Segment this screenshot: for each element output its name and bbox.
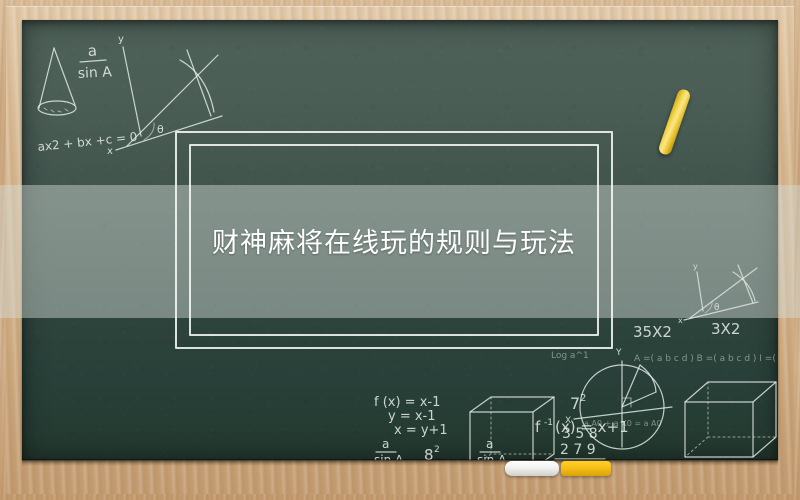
svg-text:f (x) = x-1: f (x) = x-1 xyxy=(374,395,440,410)
multiplication-35x2-text: 35X2 xyxy=(633,323,672,341)
svg-text:sin A: sin A xyxy=(477,453,507,460)
log-small-text: Log a^1 xyxy=(551,351,589,361)
function-equations-bottom: f (x) = x-1 y = x-1 x = y+1 xyxy=(374,395,448,438)
svg-text:2 7 9: 2 7 9 xyxy=(560,442,596,458)
seven-squared-text: 7 2 xyxy=(570,393,586,413)
fraction-a-over-sinA-bottomleft: a sin A xyxy=(374,437,404,460)
cone-drawing xyxy=(38,48,76,115)
cube-drawing-center xyxy=(470,397,554,460)
svg-text:a: a xyxy=(87,42,97,60)
svg-text:y: y xyxy=(118,34,124,45)
svg-text:θ: θ xyxy=(714,303,720,313)
svg-text:2: 2 xyxy=(580,393,586,404)
svg-text:x: x xyxy=(107,146,113,157)
eight-squared-text: 8 2 xyxy=(424,445,440,460)
inverse-function-text: f -1 (x) = x+1 xyxy=(535,418,629,436)
multiplication-3x2-text: 3X2 xyxy=(711,320,740,338)
matrix-notation-text: A =( a b c d ) B =( a b c d ) I =( 1 0 0… xyxy=(634,354,778,364)
fraction-a-over-sinA-mid: a sin A xyxy=(477,437,507,460)
svg-text:X: X xyxy=(565,416,571,426)
column-subtraction: 3 5 8 2 7 9 6 3 7 xyxy=(555,426,605,460)
svg-text:a: a xyxy=(486,437,493,451)
white-chalk-icon xyxy=(505,461,559,476)
circle-pie-diagram: Y X xyxy=(565,348,672,449)
svg-text:y: y xyxy=(693,262,698,271)
yellow-chalk-stick-icon xyxy=(657,88,691,157)
svg-text:sin A: sin A xyxy=(77,64,112,82)
quadratic-equation-text: ax2 + bx +c = 0 xyxy=(37,130,138,154)
svg-text:x = y+1: x = y+1 xyxy=(394,423,448,438)
svg-text:a: a xyxy=(382,437,389,451)
svg-text:3 5 8: 3 5 8 xyxy=(562,426,598,442)
yellow-chalk-icon xyxy=(561,461,611,476)
angle-diagram-right: y x θ xyxy=(678,262,758,325)
svg-text:θ: θ xyxy=(157,123,164,136)
svg-text:8: 8 xyxy=(424,446,434,460)
svg-text:x: x xyxy=(678,316,683,325)
chalkboard-banner: a sin A y x θ ax2 + bx +c = xyxy=(0,0,800,500)
svg-text:-1: -1 xyxy=(544,418,553,428)
svg-text:7: 7 xyxy=(570,394,580,413)
fraction-a-over-sinA-topleft: a sin A xyxy=(77,42,112,82)
svg-text:f: f xyxy=(535,418,541,436)
cube-drawing-right xyxy=(685,382,776,457)
tiny-expression-text: a A0 + a X0 = a A0 xyxy=(584,419,662,428)
svg-text:(x) = x+1: (x) = x+1 xyxy=(555,418,629,436)
svg-text:y = x-1: y = x-1 xyxy=(388,409,436,424)
page-title: 财神麻将在线玩的规则与玩法 xyxy=(175,131,613,349)
svg-text:2: 2 xyxy=(434,445,440,455)
svg-text:sin A: sin A xyxy=(374,453,404,460)
svg-text:Y: Y xyxy=(615,348,622,358)
